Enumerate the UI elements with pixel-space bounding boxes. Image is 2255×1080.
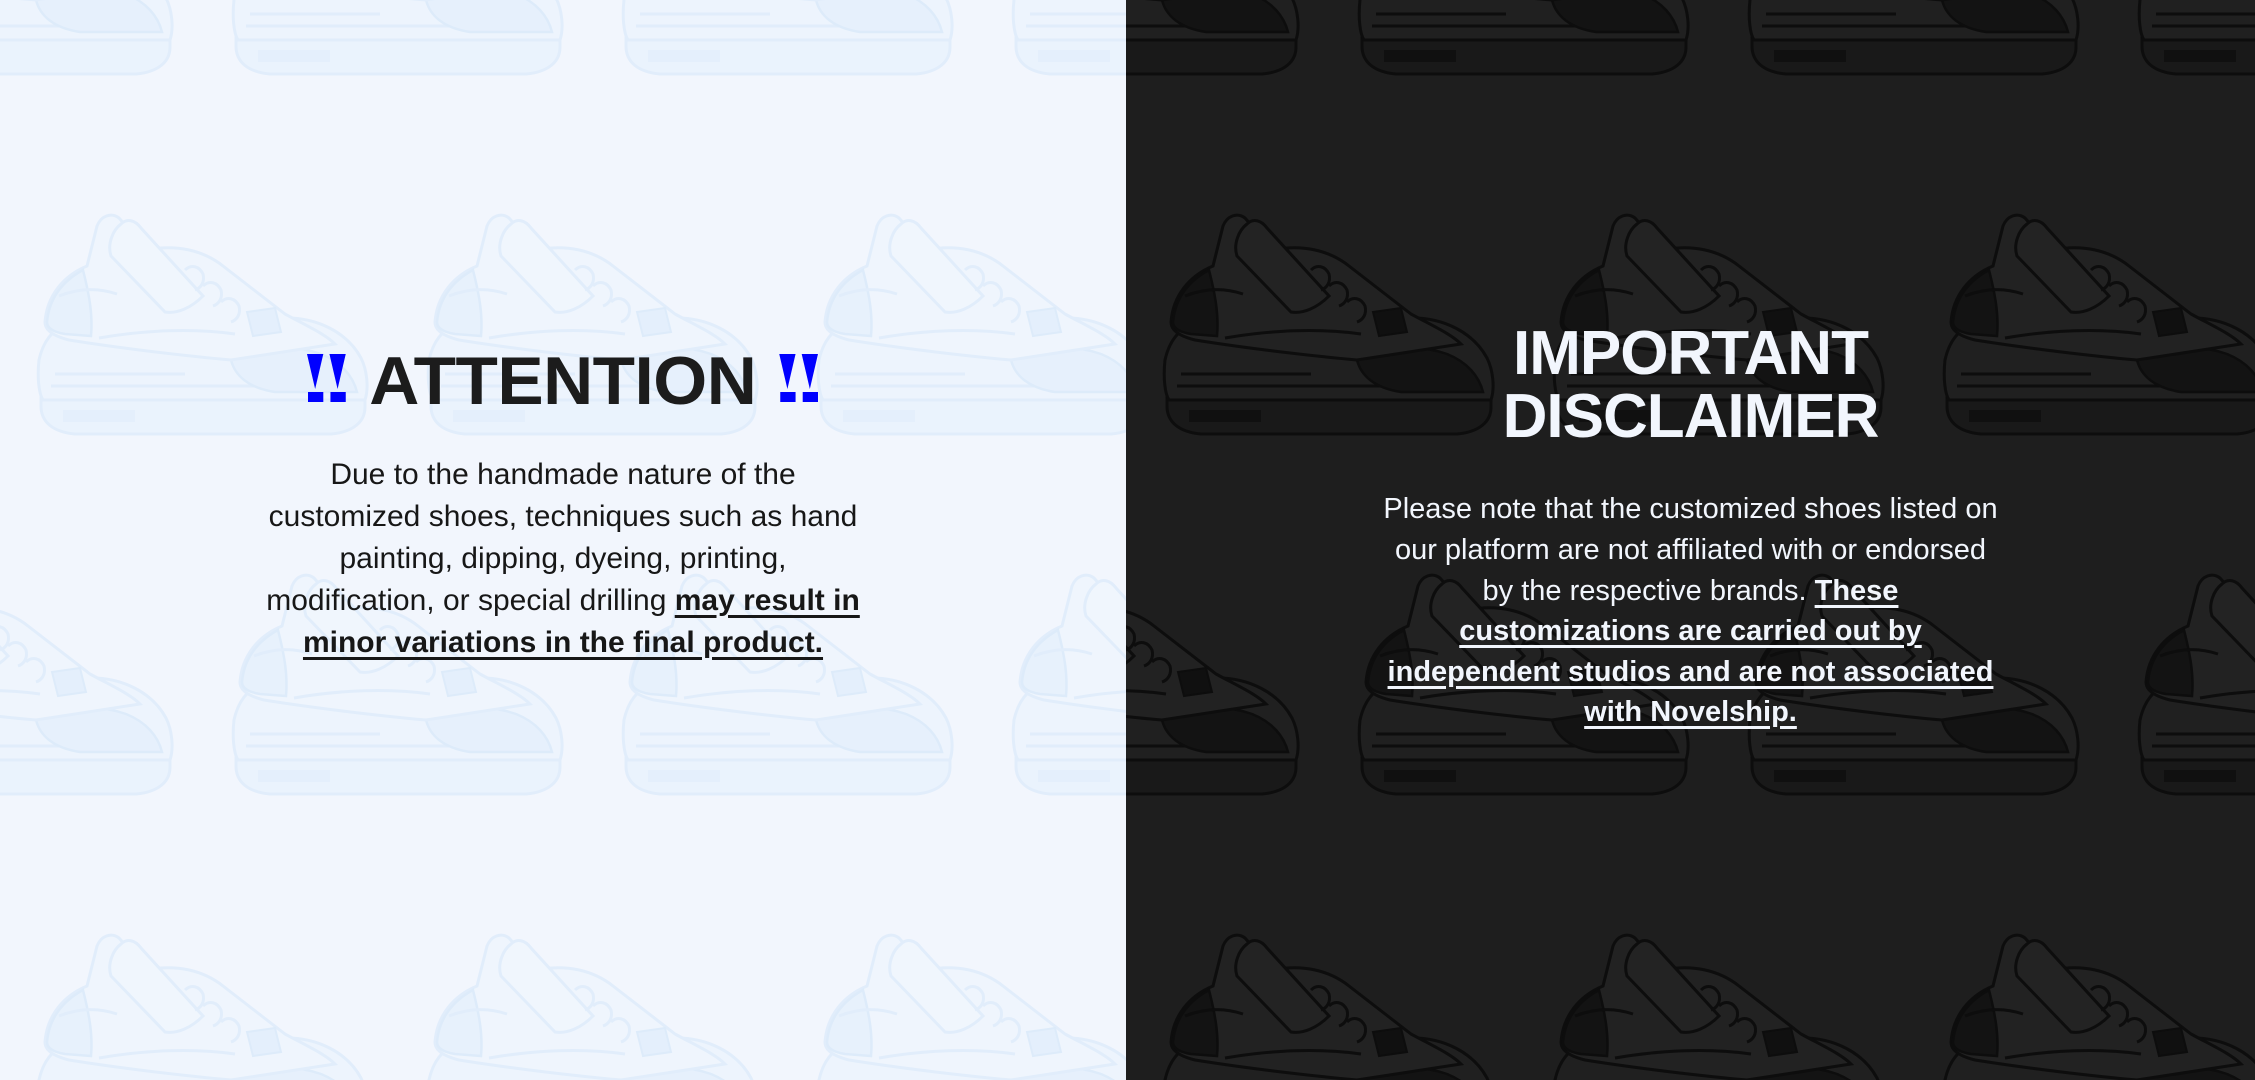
disclaimer-heading: IMPORTANT DISCLAIMER <box>1503 322 1879 448</box>
double-exclamation-mark-icon-left <box>307 354 347 402</box>
disclaimer-body-plain: Please note that the customized shoes li… <box>1383 493 1997 606</box>
disclaimer-banner: ATTENTION Due to the handmade nature of … <box>0 0 2255 1080</box>
disclaimer-content: IMPORTANT DISCLAIMER Please note that th… <box>1126 0 2255 733</box>
attention-panel: ATTENTION Due to the handmade nature of … <box>0 0 1126 1080</box>
disclaimer-heading-line-1: IMPORTANT <box>1503 322 1879 385</box>
disclaimer-panel: IMPORTANT DISCLAIMER Please note that th… <box>1126 0 2255 1080</box>
attention-heading: ATTENTION <box>307 347 819 415</box>
attention-content: ATTENTION Due to the handmade nature of … <box>0 0 1126 664</box>
attention-body: Due to the handmade nature of the custom… <box>253 454 873 664</box>
disclaimer-body: Please note that the customized shoes li… <box>1381 489 2001 733</box>
attention-heading-label: ATTENTION <box>369 347 756 415</box>
disclaimer-heading-line-2: DISCLAIMER <box>1503 385 1879 448</box>
double-exclamation-mark-icon-right <box>779 354 819 402</box>
